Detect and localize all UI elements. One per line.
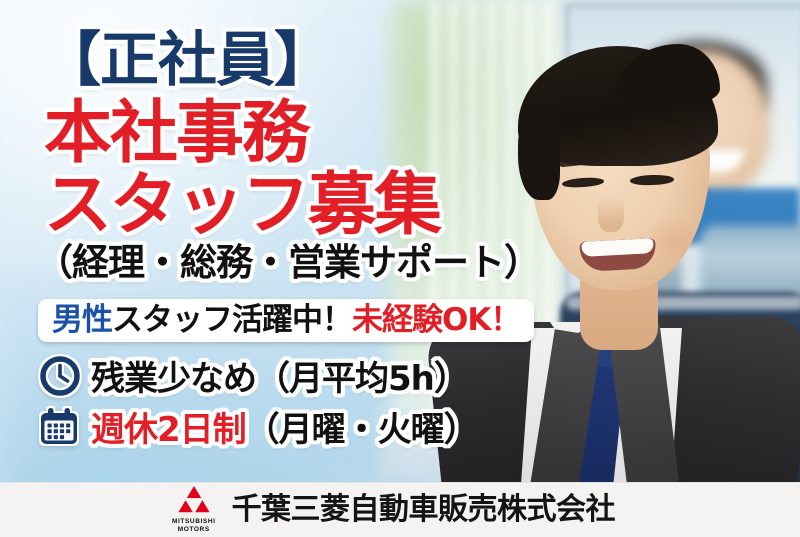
benefit-overtime-detail: （月平均5h）	[256, 362, 467, 396]
mitsubishi-three-diamond-icon	[174, 486, 214, 518]
job-advertisement-poster: デリ 【正社員】 本社事務 スタッフ募集 （経理・総	[0, 0, 800, 537]
clock-icon	[40, 356, 80, 401]
mitsubishi-wordmark-line-1: MITSUBISHI	[172, 518, 216, 526]
banner-middle-text: スタッフ活躍中！	[112, 305, 352, 336]
headline-subtitle: （経理・総務・営業サポート）	[36, 244, 540, 281]
nose	[598, 196, 624, 232]
banner-highlight-text: 男性	[52, 305, 112, 336]
footer-bar: MITSUBISHI MOTORS 千葉三菱自動車販売株式会社	[0, 482, 800, 537]
teeth	[581, 238, 654, 257]
benefit-row-overtime: 残業少なめ （月平均5h）	[40, 356, 467, 401]
headline-line-2: スタッフ募集	[44, 172, 440, 240]
benefit-days-off-label: 週休2日制	[91, 413, 246, 447]
mitsubishi-logo: MITSUBISHI MOTORS	[172, 486, 216, 534]
hair-sideburn	[518, 110, 560, 200]
benefit-overtime-label: 残業少なめ	[91, 362, 256, 396]
benefit-row-days-off: 週休2日制 （月曜・火曜）	[38, 406, 477, 453]
headline-line-1: 本社事務	[44, 100, 308, 168]
mitsubishi-wordmark-line-2: MOTORS	[178, 526, 210, 534]
highlight-banner: 男性 スタッフ活躍中！ 未経験OK！	[38, 299, 534, 342]
calendar-icon	[38, 406, 80, 453]
benefit-days-off-detail: （月曜・火曜）	[246, 413, 477, 447]
footer-content: MITSUBISHI MOTORS 千葉三菱自動車販売株式会社	[172, 486, 615, 534]
company-name: 千葉三菱自動車販売株式会社	[232, 495, 616, 525]
employment-type-label: 【正社員】	[42, 30, 332, 89]
banner-emphasis-text: 未経験OK！	[352, 305, 520, 336]
